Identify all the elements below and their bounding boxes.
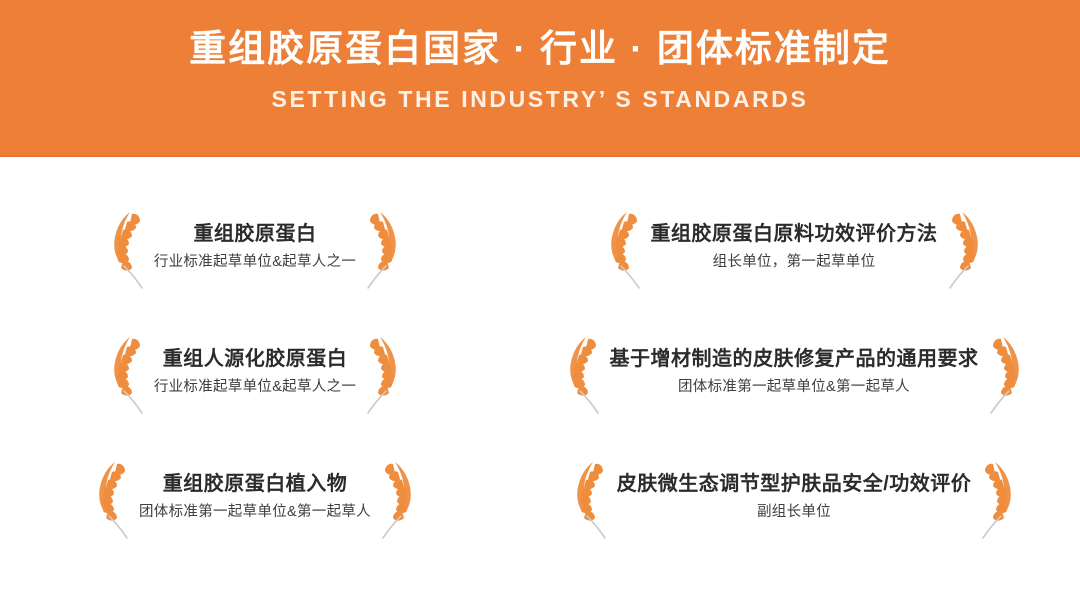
award-item: 重组胶原蛋白植入物 团体标准第一起草单位&第一起草人 bbox=[0, 434, 500, 559]
award-item: 重组胶原蛋白 行业标准起草单位&起草人之一 bbox=[0, 184, 500, 309]
page-title: 重组胶原蛋白国家 · 行业 · 团体标准制定 bbox=[189, 26, 891, 72]
wheat-icon bbox=[362, 204, 408, 290]
award-text: 基于增材制造的皮肤修复产品的通用要求 团体标准第一起草单位&第一起草人 bbox=[604, 346, 985, 398]
wheat-icon bbox=[565, 454, 611, 540]
award-subtitle: 行业标准起草单位&起草人之一 bbox=[154, 378, 356, 398]
award-text: 重组胶原蛋白原料功效评价方法 组长单位，第一起草单位 bbox=[645, 221, 944, 273]
award-text: 皮肤微生态调节型护肤品安全/功效评价 副组长单位 bbox=[611, 471, 978, 523]
page-subtitle: SETTING THE INDUSTRY’ S STANDARDS bbox=[272, 86, 809, 113]
wheat-icon bbox=[985, 329, 1031, 415]
award-title: 重组胶原蛋白原料功效评价方法 bbox=[651, 221, 938, 248]
award-title: 重组胶原蛋白植入物 bbox=[163, 471, 348, 498]
award-title: 基于增材制造的皮肤修复产品的通用要求 bbox=[610, 346, 979, 373]
award-item: 皮肤微生态调节型护肤品安全/功效评价 副组长单位 bbox=[500, 434, 1080, 559]
award-subtitle: 组长单位，第一起草单位 bbox=[713, 253, 876, 273]
award-text: 重组人源化胶原蛋白 行业标准起草单位&起草人之一 bbox=[148, 346, 362, 398]
wheat-icon bbox=[599, 204, 645, 290]
wheat-icon bbox=[377, 454, 423, 540]
award-subtitle: 团体标准第一起草单位&第一起草人 bbox=[139, 503, 371, 523]
award-item: 重组人源化胶原蛋白 行业标准起草单位&起草人之一 bbox=[0, 309, 500, 434]
award-title: 重组胶原蛋白 bbox=[194, 221, 317, 248]
award-subtitle: 团体标准第一起草单位&第一起草人 bbox=[678, 378, 910, 398]
wheat-icon bbox=[558, 329, 604, 415]
wheat-icon bbox=[87, 454, 133, 540]
wheat-icon bbox=[944, 204, 990, 290]
wheat-icon bbox=[977, 454, 1023, 540]
wheat-icon bbox=[102, 329, 148, 415]
award-title: 皮肤微生态调节型护肤品安全/功效评价 bbox=[617, 471, 972, 498]
award-subtitle: 行业标准起草单位&起草人之一 bbox=[154, 253, 356, 273]
header-banner: 重组胶原蛋白国家 · 行业 · 团体标准制定 SETTING THE INDUS… bbox=[0, 0, 1080, 157]
award-text: 重组胶原蛋白 行业标准起草单位&起草人之一 bbox=[148, 221, 362, 273]
award-item: 基于增材制造的皮肤修复产品的通用要求 团体标准第一起草单位&第一起草人 bbox=[500, 309, 1080, 434]
wheat-icon bbox=[362, 329, 408, 415]
award-item: 重组胶原蛋白原料功效评价方法 组长单位，第一起草单位 bbox=[500, 184, 1080, 309]
wheat-icon bbox=[102, 204, 148, 290]
slide-root: 重组胶原蛋白国家 · 行业 · 团体标准制定 SETTING THE INDUS… bbox=[0, 0, 1080, 607]
awards-grid: 重组胶原蛋白 行业标准起草单位&起草人之一 bbox=[0, 157, 1080, 607]
award-text: 重组胶原蛋白植入物 团体标准第一起草单位&第一起草人 bbox=[133, 471, 377, 523]
award-title: 重组人源化胶原蛋白 bbox=[163, 346, 348, 373]
award-subtitle: 副组长单位 bbox=[757, 503, 831, 523]
